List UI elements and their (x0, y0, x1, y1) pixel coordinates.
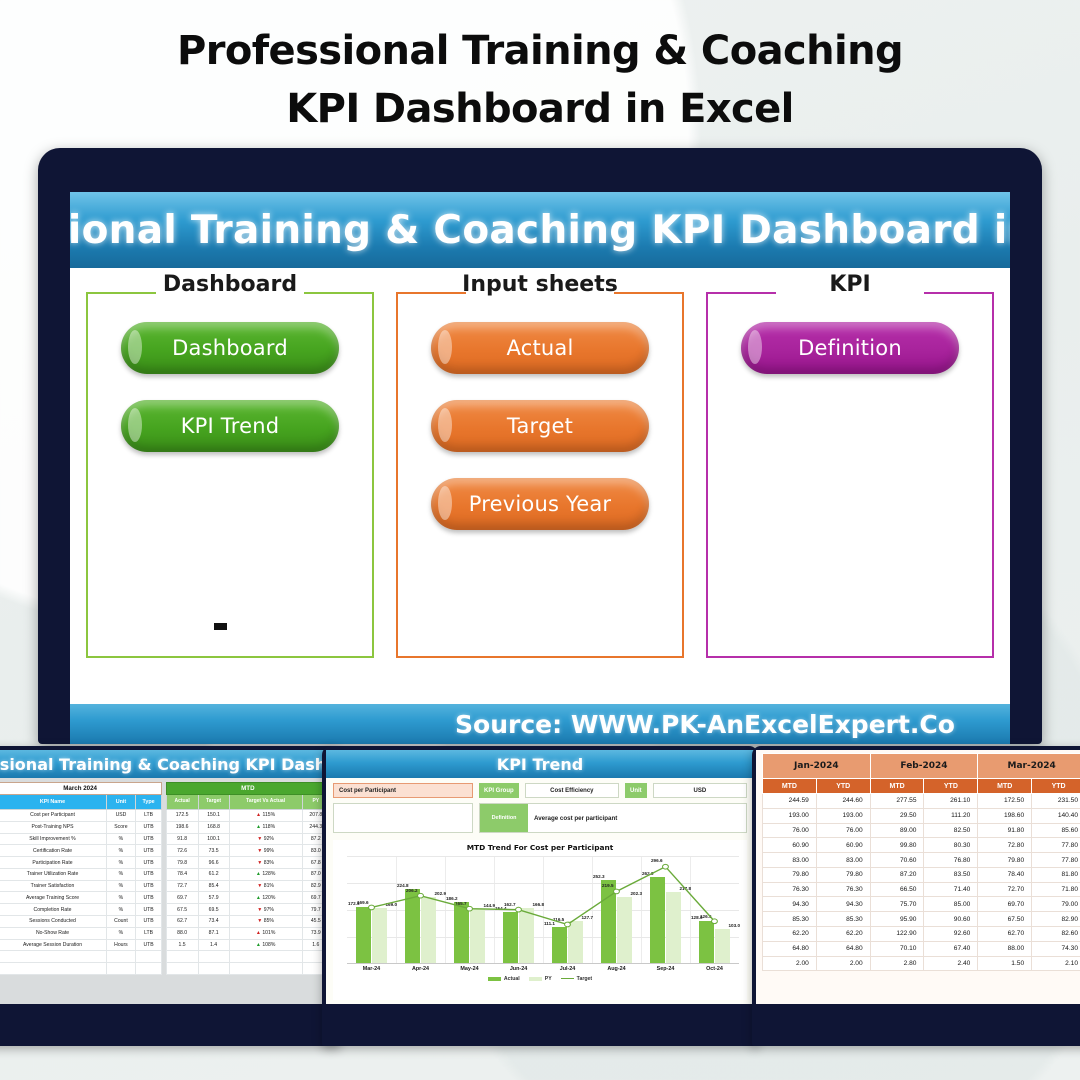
nav-group-dashboard: DashboardDashboardKPI Trend (86, 278, 374, 668)
month-value-cell: 85.00 (924, 897, 978, 912)
kpi-name-cell: Average Training Score (0, 892, 107, 904)
kpi-target-cell: 168.8 (198, 821, 229, 833)
month-value-cell: 70.60 (870, 853, 924, 868)
legend-line-icon (561, 978, 574, 980)
table-row: Skill Improvement %%UTB91.8100.1▼ 92%87.… (0, 833, 330, 845)
kpi-type-cell: UTB (135, 916, 161, 928)
month-value-cell: 82.90 (1032, 912, 1080, 927)
kpi-type-cell: LTB (135, 927, 161, 939)
month-value-cell: 71.40 (924, 882, 978, 897)
empty-cell (107, 963, 136, 975)
table-row: 62.2062.20122.9092.6062.7082.60 (763, 927, 1080, 942)
month-value-cell: 74.30 (1032, 941, 1080, 956)
kpi-target-cell: 96.6 (198, 857, 229, 869)
kpi-unit-cell: % (107, 857, 136, 869)
kpi-name-cell: No-Show Rate (0, 927, 107, 939)
mtd-trend-chart: MTD Trend For Cost per Participant 172.5… (333, 840, 747, 1000)
legend-swatch-icon (529, 977, 542, 981)
month-value-cell: 90.60 (924, 912, 978, 927)
empty-cell (198, 963, 229, 975)
page-title: Professional Training & Coaching KPI Das… (0, 22, 1080, 138)
month-value-cell: 83.00 (763, 853, 817, 868)
table-row: 244.59244.60277.55261.10172.50231.50 (763, 794, 1080, 809)
empty-cell (166, 963, 198, 975)
month-value-cell: 2.00 (816, 956, 870, 971)
kpi-spreadsheet[interactable]: March 2024 MTD KPI NameUnitTypeActualTar… (0, 778, 336, 1004)
target-marker (418, 893, 424, 898)
kpi-unit-cell: % (107, 880, 136, 892)
subheader-mtd: MTD (870, 779, 924, 794)
kpi-actual-cell: 78.4 (166, 868, 198, 880)
month-value-cell: 94.30 (763, 897, 817, 912)
table-row: 2.002.002.802.401.502.10 (763, 956, 1080, 971)
kpi-actual-cell: 72.7 (166, 880, 198, 892)
right-laptop-frame: Jan-2024Feb-2024Mar-2024 MTDYTDMTDYTDMTD… (752, 746, 1080, 1046)
kpi-col-kpi-name: KPI Name (0, 795, 107, 810)
kpi-name-cell: Completion Rate (0, 904, 107, 916)
kpi-unit-cell: USD (107, 810, 136, 822)
month-value-cell: 70.10 (870, 941, 924, 956)
kpi-unit-cell: % (107, 845, 136, 857)
month-value-cell: 111.20 (924, 808, 978, 823)
x-tick-label: Apr-24 (396, 966, 445, 972)
nav-button-kpi-trend[interactable]: KPI Trend (121, 400, 339, 452)
kpi-name-cell: Skill Improvement % (0, 833, 107, 845)
month-value-cell: 79.80 (816, 867, 870, 882)
kpi-target-vs-actual-cell: ▲ 108% (229, 939, 302, 951)
month-value-cell: 66.50 (870, 882, 924, 897)
kpi-col-target-vs-actual: Target Vs Actual (229, 795, 302, 810)
month-value-cell: 198.60 (978, 808, 1032, 823)
kpi-table: March 2024 MTD KPI NameUnitTypeActualTar… (0, 782, 330, 975)
month-value-cell: 2.10 (1032, 956, 1080, 971)
mtd-label: MTD (166, 783, 329, 795)
kpi-target-cell: 85.4 (198, 880, 229, 892)
kpi-target-cell: 61.2 (198, 868, 229, 880)
month-value-cell: 244.59 (763, 794, 817, 809)
month-value-cell: 231.50 (1032, 794, 1080, 809)
empty-cell (107, 951, 136, 963)
table-row: 64.8064.8070.1067.4088.0074.30 (763, 941, 1080, 956)
month-table: Jan-2024Feb-2024Mar-2024 MTDYTDMTDYTDMTD… (762, 753, 1080, 971)
kpi-name-cell: Trainer Utilization Rate (0, 868, 107, 880)
kpi-group-label: KPI Group (479, 783, 519, 798)
table-row: 193.00193.0029.50111.20198.60140.40 (763, 808, 1080, 823)
kpi-header-row: KPI NameUnitTypeActualTargetTarget Vs Ac… (0, 795, 330, 810)
month-table-body: 244.59244.60277.55261.10172.50231.50193.… (763, 794, 1080, 971)
month-value-cell: 64.80 (816, 941, 870, 956)
kpi-type-cell: UTB (135, 892, 161, 904)
target-marker (663, 864, 669, 869)
month-value-cell: 77.80 (1032, 853, 1080, 868)
percent-value: 120% (261, 895, 275, 901)
kpi-col-actual: Actual (166, 795, 198, 810)
legend-label: Actual (504, 976, 520, 982)
empty-row (0, 963, 330, 975)
nav-group-input-sheets: Input sheetsActualTargetPrevious Year (396, 278, 684, 668)
cursor-icon (214, 623, 227, 630)
kpi-unit-cell: Score (107, 821, 136, 833)
kpi-unit-cell: % (107, 927, 136, 939)
x-tick-label: Aug-24 (592, 966, 641, 972)
legend-label: Target (577, 976, 592, 982)
chart-x-axis: Mar-24Apr-24May-24Jun-24Jul-24Aug-24Sep-… (347, 966, 739, 972)
target-marker (516, 907, 522, 912)
group-buttons: DashboardKPI Trend (86, 322, 374, 452)
month-value-cell: 71.80 (1032, 882, 1080, 897)
target-line-series (347, 856, 739, 962)
chart-title: MTD Trend For Cost per Participant (333, 840, 747, 852)
definition-value: Average cost per participant (528, 804, 617, 832)
kpi-col-target: Target (198, 795, 229, 810)
month-value-cell: 2.80 (870, 956, 924, 971)
kpi-type-cell: UTB (135, 833, 161, 845)
table-row: Average Training Score%UTB69.757.9▲ 120%… (0, 892, 330, 904)
percent-value: 108% (261, 942, 275, 948)
month-value-cell: 80.30 (924, 838, 978, 853)
month-value-cell: 85.60 (1032, 823, 1080, 838)
kpi-target-vs-actual-cell: ▼ 92% (229, 833, 302, 845)
table-row: Cost per ParticipantUSDLTB172.5150.1▲ 11… (0, 810, 330, 822)
kpi-name-cell: Cost per Participant (0, 810, 107, 822)
month-value-cell: 62.20 (816, 927, 870, 942)
target-marker (565, 922, 571, 927)
legend-item-target: Target (561, 976, 592, 982)
month-label[interactable]: March 2024 (0, 783, 162, 795)
kpi-target-vs-actual-cell: ▼ 81% (229, 880, 302, 892)
month-value-cell: 140.40 (1032, 808, 1080, 823)
table-row: 94.3094.3075.7085.0069.7079.00 (763, 897, 1080, 912)
table-row: 85.3085.3095.9090.6067.5082.90 (763, 912, 1080, 927)
month-value-cell: 79.80 (763, 867, 817, 882)
kpi-name-cell: Participation Rate (0, 857, 107, 869)
kpi-group-value: Cost Efficiency (525, 783, 619, 798)
percent-value: 115% (261, 812, 275, 818)
kpi-name-cell: Average Session Duration (0, 939, 107, 951)
x-tick-label: Jul-24 (543, 966, 592, 972)
month-subheader-row: MTDYTDMTDYTDMTDYTD (763, 779, 1080, 794)
month-value-cell: 95.90 (870, 912, 924, 927)
percent-value: 99% (262, 848, 274, 854)
kpi-actual-cell: 172.5 (166, 810, 198, 822)
kpi-target-vs-actual-cell: ▼ 85% (229, 916, 302, 928)
kpi-unit-cell: % (107, 868, 136, 880)
x-tick-label: Jun-24 (494, 966, 543, 972)
month-value-cell: 62.20 (763, 927, 817, 942)
month-value-cell: 2.40 (924, 956, 978, 971)
x-tick-label: May-24 (445, 966, 494, 972)
kpi-target-vs-actual-cell: ▲ 118% (229, 821, 302, 833)
kpi-type-cell: UTB (135, 904, 161, 916)
month-value-cell: 76.00 (763, 823, 817, 838)
definition-wrapper: Definition Average cost per participant (479, 803, 747, 833)
month-value-cell: 99.80 (870, 838, 924, 853)
month-header-row: Jan-2024Feb-2024Mar-2024 (763, 754, 1080, 779)
kpi-name-cell: Trainer Satisfaction (0, 880, 107, 892)
month-value-cell: 67.50 (978, 912, 1032, 927)
trend-info-row-2: Definition Average cost per participant (333, 803, 747, 833)
kpi-type-cell: LTB (135, 810, 161, 822)
kpi-trend-screen: KPI Trend Cost per Participant KPI Group… (326, 750, 754, 1004)
kpi-table-head: March 2024 MTD KPI NameUnitTypeActualTar… (0, 783, 330, 810)
unit-label: Unit (625, 783, 647, 798)
table-row: Completion Rate%UTB67.569.5▼ 97%79.7 (0, 904, 330, 916)
percent-value: 118% (261, 824, 275, 830)
table-row: 79.8079.8087.2083.5078.4081.80 (763, 867, 1080, 882)
month-value-cell: 76.80 (924, 853, 978, 868)
trend-info-row-1: Cost per Participant KPI Group Cost Effi… (333, 783, 747, 798)
month-value-cell: 82.50 (924, 823, 978, 838)
empty-cell (135, 963, 161, 975)
unit-value: USD (653, 783, 747, 798)
excel-banner-title: sional Training & Coaching KPI Dashboard… (70, 192, 1010, 268)
table-row: 76.3076.3066.5071.4072.7071.80 (763, 882, 1080, 897)
kpi-target-vs-actual-cell: ▲ 115% (229, 810, 302, 822)
table-row: Trainer Utilization Rate%UTB78.461.2▲ 12… (0, 868, 330, 880)
table-row: 60.9060.9099.8080.3072.8077.80 (763, 838, 1080, 853)
kpi-actual-cell: 62.7 (166, 916, 198, 928)
kpi-name-cell: Post-Training NPS (0, 821, 107, 833)
kpi-target-vs-actual-cell: ▼ 97% (229, 904, 302, 916)
title-line-1: Professional Training & Coaching (0, 22, 1080, 80)
month-value-cell: 79.00 (1032, 897, 1080, 912)
month-table-head: Jan-2024Feb-2024Mar-2024 MTDYTDMTDYTDMTD… (763, 754, 1080, 794)
month-value-cell: 94.30 (816, 897, 870, 912)
kpi-target-cell: 87.1 (198, 927, 229, 939)
kpi-actual-cell: 198.6 (166, 821, 198, 833)
nav-button-definition[interactable]: Definition (741, 322, 959, 374)
legend-item-py: PY (529, 976, 552, 982)
subheader-ytd: YTD (924, 779, 978, 794)
center-laptop-frame: KPI Trend Cost per Participant KPI Group… (322, 746, 758, 1046)
kpi-unit-cell: % (107, 892, 136, 904)
group-title: Input sheets (396, 272, 684, 297)
trend-banner: KPI Trend (326, 750, 754, 778)
month-value-cell: 2.00 (763, 956, 817, 971)
nav-button-actual[interactable]: Actual (431, 322, 649, 374)
percent-value: 97% (262, 907, 274, 913)
kpi-target-vs-actual-cell: ▼ 99% (229, 845, 302, 857)
kpi-month-row: March 2024 MTD (0, 783, 330, 795)
target-marker (467, 906, 473, 911)
subheader-ytd: YTD (1032, 779, 1080, 794)
percent-value: 83% (262, 860, 274, 866)
empty-cell (166, 951, 198, 963)
kpi-col-unit: Unit (107, 795, 136, 810)
month-value-cell: 79.80 (978, 853, 1032, 868)
chart-legend: ActualPYTarget (333, 976, 747, 982)
month-value-cell: 76.30 (816, 882, 870, 897)
nav-button-dashboard[interactable]: Dashboard (121, 322, 339, 374)
empty-cell (229, 951, 302, 963)
subheader-mtd: MTD (978, 779, 1032, 794)
empty-cell (229, 963, 302, 975)
chart-plot-area: 172.5169.0169.6224.8202.9206.2186.2144.9… (347, 856, 739, 964)
month-value-cell: 92.60 (924, 927, 978, 942)
selected-kpi-name[interactable]: Cost per Participant (333, 783, 473, 798)
kpi-target-cell: 73.4 (198, 916, 229, 928)
nav-button-target[interactable]: Target (431, 400, 649, 452)
table-row: Sessions ConductedCountUTB62.773.4▼ 85%4… (0, 916, 330, 928)
month-value-cell: 83.00 (816, 853, 870, 868)
month-value-cell: 244.60 (816, 794, 870, 809)
kpi-table-screen: essional Training & Coaching KPI Dashbo … (0, 750, 336, 1004)
empty-row (0, 951, 330, 963)
table-row: Average Session DurationHoursUTB1.51.4▲ … (0, 939, 330, 951)
kpi-target-cell: 73.5 (198, 845, 229, 857)
navigation-groups: DashboardDashboardKPI TrendInput sheetsA… (70, 278, 1010, 668)
percent-value: 85% (262, 918, 274, 924)
kpi-unit-cell: Count (107, 916, 136, 928)
month-table-screen: Jan-2024Feb-2024Mar-2024 MTDYTDMTDYTDMTD… (756, 750, 1080, 1004)
month-value-cell: 76.30 (763, 882, 817, 897)
kpi-unit-cell: Hours (107, 939, 136, 951)
month-value-cell: 85.30 (816, 912, 870, 927)
kpi-type-cell: UTB (135, 857, 161, 869)
empty-cell (135, 951, 161, 963)
kpi-actual-cell: 88.0 (166, 927, 198, 939)
kpi-target-vs-actual-cell: ▲ 120% (229, 892, 302, 904)
empty-cell (0, 963, 107, 975)
month-header-feb-2024: Feb-2024 (870, 754, 978, 779)
kpi-actual-cell: 72.6 (166, 845, 198, 857)
main-screen: sional Training & Coaching KPI Dashboard… (70, 192, 1010, 744)
percent-value: 101% (261, 930, 275, 936)
target-marker (369, 905, 375, 910)
title-line-2: KPI Dashboard in Excel (0, 80, 1080, 138)
x-tick-label: Sep-24 (641, 966, 690, 972)
x-tick-label: Mar-24 (347, 966, 396, 972)
kpi-actual-cell: 79.8 (166, 857, 198, 869)
kpi-actual-cell: 67.5 (166, 904, 198, 916)
month-value-cell: 1.50 (978, 956, 1032, 971)
kpi-actual-cell: 91.8 (166, 833, 198, 845)
month-value-cell: 77.80 (1032, 838, 1080, 853)
kpi-type-cell: UTB (135, 880, 161, 892)
month-value-cell: 87.20 (870, 867, 924, 882)
month-value-cell: 88.00 (978, 941, 1032, 956)
kpi-col-type: Type (135, 795, 161, 810)
empty-cell (198, 951, 229, 963)
group-buttons: Definition (706, 322, 994, 374)
kpi-target-cell: 1.4 (198, 939, 229, 951)
x-tick-label: Oct-24 (690, 966, 739, 972)
kpi-type-cell: UTB (135, 868, 161, 880)
kpi-type-cell: UTB (135, 845, 161, 857)
table-row: Participation Rate%UTB79.896.6▼ 83%67.8 (0, 857, 330, 869)
month-value-cell: 85.30 (763, 912, 817, 927)
kpi-type-cell: UTB (135, 821, 161, 833)
month-value-cell: 29.50 (870, 808, 924, 823)
month-value-cell: 69.70 (978, 897, 1032, 912)
target-marker (712, 919, 718, 924)
month-value-cell: 81.80 (1032, 867, 1080, 882)
kpi-unit-cell: % (107, 904, 136, 916)
month-value-cell: 76.00 (816, 823, 870, 838)
left-laptop-frame: essional Training & Coaching KPI Dashbo … (0, 746, 340, 1046)
kpi-type-cell: UTB (135, 939, 161, 951)
kpi-target-vs-actual-cell: ▼ 83% (229, 857, 302, 869)
trend-spreadsheet[interactable]: Cost per Participant KPI Group Cost Effi… (326, 778, 754, 1004)
legend-label: PY (545, 976, 552, 982)
kpi-target-cell: 100.1 (198, 833, 229, 845)
legend-item-actual: Actual (488, 976, 520, 982)
table-row: No-Show Rate%LTB88.087.1▲ 101%73.9 (0, 927, 330, 939)
month-value-cell: 72.80 (978, 838, 1032, 853)
group-title: KPI (706, 272, 994, 297)
month-value-cell: 60.90 (763, 838, 817, 853)
main-laptop-frame: sional Training & Coaching KPI Dashboard… (38, 148, 1042, 744)
table-row: 83.0083.0070.6076.8079.8077.80 (763, 853, 1080, 868)
legend-swatch-icon (488, 977, 501, 981)
month-header-jan-2024: Jan-2024 (763, 754, 871, 779)
month-value-cell: 78.40 (978, 867, 1032, 882)
month-spreadsheet[interactable]: Jan-2024Feb-2024Mar-2024 MTDYTDMTDYTDMTD… (756, 750, 1080, 1004)
kpi-target-cell: 69.5 (198, 904, 229, 916)
month-value-cell: 72.70 (978, 882, 1032, 897)
percent-value: 81% (262, 883, 274, 889)
month-value-cell: 261.10 (924, 794, 978, 809)
month-value-cell: 75.70 (870, 897, 924, 912)
empty-cell (0, 951, 107, 963)
subheader-ytd: YTD (816, 779, 870, 794)
kpi-unit-cell: % (107, 833, 136, 845)
nav-group-kpi: KPIDefinition (706, 278, 994, 668)
kpi-name-cell: Sessions Conducted (0, 916, 107, 928)
month-value-cell: 91.80 (978, 823, 1032, 838)
month-value-cell: 172.50 (978, 794, 1032, 809)
month-value-cell: 64.80 (763, 941, 817, 956)
month-value-cell: 193.00 (816, 808, 870, 823)
percent-value: 128% (261, 871, 275, 877)
month-value-cell: 62.70 (978, 927, 1032, 942)
month-value-cell: 193.00 (763, 808, 817, 823)
nav-button-previous-year[interactable]: Previous Year (431, 478, 649, 530)
month-value-cell: 89.00 (870, 823, 924, 838)
subheader-mtd: MTD (763, 779, 817, 794)
month-value-cell: 60.90 (816, 838, 870, 853)
table-row: 76.0076.0089.0082.5091.8085.60 (763, 823, 1080, 838)
month-value-cell: 122.90 (870, 927, 924, 942)
kpi-actual-cell: 1.5 (166, 939, 198, 951)
month-value-cell: 67.40 (924, 941, 978, 956)
kpi-name-cell: Certification Rate (0, 845, 107, 857)
month-value-cell: 82.60 (1032, 927, 1080, 942)
kpi-sheet-banner: essional Training & Coaching KPI Dashbo (0, 750, 336, 778)
kpi-table-body: Cost per ParticipantUSDLTB172.5150.1▲ 11… (0, 810, 330, 975)
definition-label: Definition (480, 804, 528, 832)
kpi-actual-cell: 69.7 (166, 892, 198, 904)
table-row: Post-Training NPSScoreUTB198.6168.8▲ 118… (0, 821, 330, 833)
month-value-cell: 83.50 (924, 867, 978, 882)
kpi-target-cell: 57.9 (198, 892, 229, 904)
group-buttons: ActualTargetPrevious Year (396, 322, 684, 530)
table-row: Certification Rate%UTB72.673.5▼ 99%83.0 (0, 845, 330, 857)
target-marker (614, 889, 620, 894)
source-footer: Source: WWW.PK-AnExcelExpert.Co (70, 704, 1010, 744)
kpi-target-vs-actual-cell: ▲ 128% (229, 868, 302, 880)
month-value-cell: 277.55 (870, 794, 924, 809)
table-row: Trainer Satisfaction%UTB72.785.4▼ 81%82.… (0, 880, 330, 892)
kpi-target-vs-actual-cell: ▲ 101% (229, 927, 302, 939)
blank-cell (333, 803, 473, 833)
group-title: Dashboard (86, 272, 374, 297)
percent-value: 92% (262, 836, 274, 842)
kpi-target-cell: 150.1 (198, 810, 229, 822)
month-header-mar-2024: Mar-2024 (978, 754, 1080, 779)
